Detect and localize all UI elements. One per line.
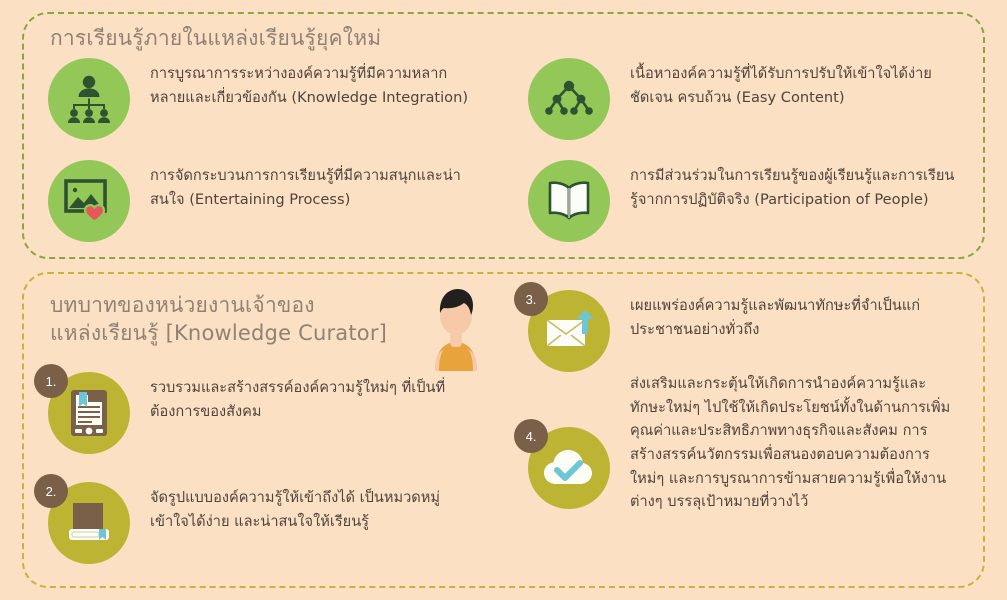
icon-circle [48,58,130,140]
icon-badge [528,58,610,140]
list-item: 4. ส่งเสริมและกระตุ้นให้เกิดการนำองค์ควา… [528,372,958,514]
tablet-document-icon [69,388,109,438]
icon-badge: 3. [528,290,610,372]
list-item-text: การจัดกระบวนการการเรียนรู้ที่มีความสนุกแ… [130,160,478,211]
open-book-icon [546,179,592,223]
org-hierarchy-icon [63,75,115,123]
list-item: เนื้อหาองค์ความรู้ที่ได้รับการปรับให้เข้… [528,58,958,140]
icon-badge: 4. [528,427,610,509]
stacked-books-icon [65,501,113,545]
icon-badge: 2. [48,482,130,564]
cloud-check-icon [543,448,595,488]
list-item-text: รวบรวมและสร้างสรรค์องค์ความรู้ใหม่ๆ ที่เ… [130,372,478,423]
item-number-badge: 1. [34,364,68,398]
list-item-text: การมีส่วนร่วมในการเรียนรู้ของผู้เรียนรู้… [610,160,958,211]
item-number-badge: 4. [514,419,548,453]
panel-top-title: การเรียนรู้ภายในแหล่งเรียนรู้ยุคใหม่ [50,25,381,53]
list-item: 2. จัดรูปแบบองค์ความรู้ให้เข้าถึงได้ เป็… [48,482,478,564]
list-item: การบูรณาการระหว่างองค์ความรู้ที่มีความหล… [48,58,478,140]
infographic-page: การเรียนรู้ภายในแหล่งเรียนรู้ยุคใหม่ [0,0,1007,600]
list-item-text: การบูรณาการระหว่างองค์ความรู้ที่มีความหล… [130,58,478,109]
panel-bottom-title: บทบาทของหน่วยงานเจ้าของ แหล่งเรียนรู้ [K… [50,292,387,347]
picture-heart-icon [64,179,114,223]
list-item-text: จัดรูปแบบองค์ความรู้ให้เข้าถึงได้ เป็นหม… [130,482,478,533]
icon-badge [528,160,610,242]
list-item-text: เผยแพร่องค์ความรู้และพัฒนาทักษะที่จำเป็น… [610,290,958,341]
list-item: การจัดกระบวนการการเรียนรู้ที่มีความสนุกแ… [48,160,478,242]
icon-badge [48,160,130,242]
list-item-text: ส่งเสริมและกระตุ้นให้เกิดการนำองค์ความรู… [610,372,958,514]
icon-badge: 1. [48,372,130,454]
icon-badge [48,58,130,140]
list-item: 1. รวบรว [48,372,478,454]
person-avatar [425,283,487,371]
tree-network-icon [544,79,594,119]
icon-circle [528,160,610,242]
icon-circle [528,58,610,140]
item-number-badge: 3. [514,282,548,316]
list-item-text: เนื้อหาองค์ความรู้ที่ได้รับการปรับให้เข้… [610,58,958,109]
envelope-upload-icon [544,310,594,352]
icon-circle [48,160,130,242]
list-item: 3. เผยแพร่องค์ความรู้และพัฒนาทักษะที่จำเ… [528,290,958,372]
item-number-badge: 2. [34,474,68,508]
list-item: การมีส่วนร่วมในการเรียนรู้ของผู้เรียนรู้… [528,160,958,242]
